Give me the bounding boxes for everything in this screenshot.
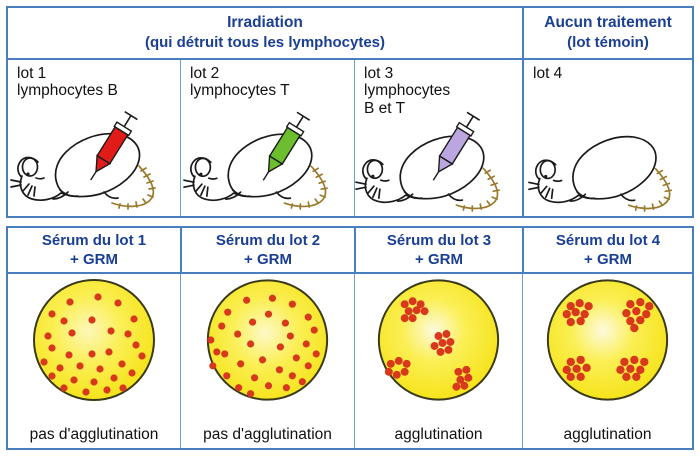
lot-label-lot2: lot 2 lymphocytes T xyxy=(190,65,290,100)
petri-dish-lot1 xyxy=(8,276,180,404)
dish-cell-lot2: pas d'agglutination xyxy=(180,274,354,448)
lot-label-lot3: lot 3 lymphocytes B et T xyxy=(364,65,450,117)
serum-header-lot3: Sérum du lot 3 + GRM xyxy=(354,228,522,272)
result-label-lot4: agglutination xyxy=(523,426,692,444)
serum-header-lot1-line2: + GRM xyxy=(70,250,118,270)
petri-dish-lot4 xyxy=(523,276,692,404)
serum-header-row: Sérum du lot 1 + GRM Sérum du lot 2 + GR… xyxy=(8,228,692,274)
dish-cell-lot1: pas d'agglutination xyxy=(8,274,180,448)
result-label-lot3: agglutination xyxy=(355,426,522,444)
result-label-lot1: pas d'agglutination xyxy=(8,426,180,444)
figure-root: Irradiation (qui détruit tous les lympho… xyxy=(0,0,700,456)
mouse-illustration-lot4 xyxy=(524,98,692,216)
serum-header-lot3-line1: Sérum du lot 3 xyxy=(387,231,491,251)
header-no-treatment: Aucun traitement (lot témoin) xyxy=(522,8,692,58)
header-irradiation: Irradiation (qui détruit tous les lympho… xyxy=(8,8,522,58)
mouse-cell-lot4: lot 4 xyxy=(522,60,692,216)
petri-dish-lot2 xyxy=(181,276,354,404)
lot-label-lot4: lot 4 xyxy=(533,65,562,82)
mouse-row: lot 1 lymphocytes B xyxy=(8,60,692,216)
serum-header-lot2-line1: Sérum du lot 2 xyxy=(216,231,320,251)
serum-header-lot4: Sérum du lot 4 + GRM xyxy=(522,228,692,272)
treatment-header-row: Irradiation (qui détruit tous les lympho… xyxy=(8,8,692,60)
dish-cell-lot4: agglutination xyxy=(522,274,692,448)
mouse-illustration-lot1 xyxy=(8,98,180,216)
header-irradiation-line1: Irradiation xyxy=(227,13,303,33)
serum-header-lot4-line1: Sérum du lot 4 xyxy=(556,231,660,251)
header-control-line1: Aucun traitement xyxy=(544,13,671,33)
serum-header-lot1-line1: Sérum du lot 1 xyxy=(42,231,146,251)
mouse-cell-lot3: lot 3 lymphocytes B et T xyxy=(354,60,522,216)
serum-header-lot2-line2: + GRM xyxy=(244,250,292,270)
serum-header-lot1: Sérum du lot 1 + GRM xyxy=(8,228,180,272)
header-control-line2: (lot témoin) xyxy=(567,33,649,53)
experiment-table-upper: Irradiation (qui détruit tous les lympho… xyxy=(6,6,694,218)
result-label-lot2: pas d'agglutination xyxy=(181,426,354,444)
dish-row: pas d'agglutination xyxy=(8,274,692,448)
petri-dish-lot3 xyxy=(355,276,522,404)
mouse-illustration-lot2 xyxy=(181,98,354,216)
serum-header-lot4-line2: + GRM xyxy=(584,250,632,270)
lot-label-lot1: lot 1 lymphocytes B xyxy=(17,65,118,100)
result-table-lower: Sérum du lot 1 + GRM Sérum du lot 2 + GR… xyxy=(6,226,694,450)
mouse-cell-lot1: lot 1 lymphocytes B xyxy=(8,60,180,216)
dish-cell-lot3: agglutination xyxy=(354,274,522,448)
mouse-cell-lot2: lot 2 lymphocytes T xyxy=(180,60,354,216)
serum-header-lot2: Sérum du lot 2 + GRM xyxy=(180,228,354,272)
serum-header-lot3-line2: + GRM xyxy=(415,250,463,270)
header-irradiation-line2: (qui détruit tous les lymphocytes) xyxy=(145,33,385,53)
